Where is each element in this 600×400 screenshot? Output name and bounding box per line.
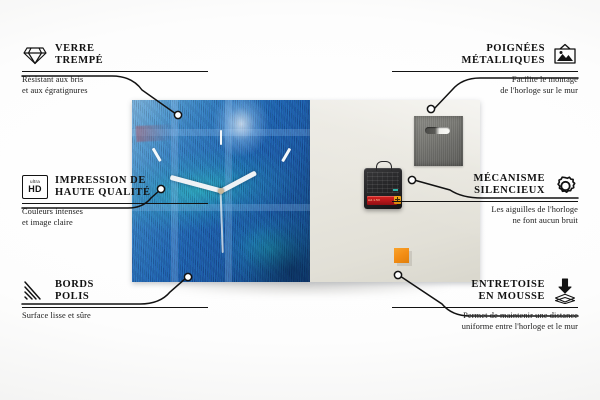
clock-pattern-highlight [200, 100, 282, 162]
foam-spacer [394, 248, 409, 263]
callout-subtitle-impression-hd: Couleurs intenses et image claire [22, 204, 208, 228]
clock-center-cap [218, 188, 224, 194]
callout-title-mecanisme: MÉCANISME SILENCIEUX [474, 173, 545, 197]
callout-subtitle-mecanisme: Les aiguilles de l'horloge ne font aucun… [392, 202, 578, 226]
callout-title-verre-trempe: VERRE TREMPÉ [55, 43, 103, 67]
callout-subtitle-poignees: Facilite le montage de l'horloge sur le … [392, 72, 578, 96]
hanger-keyhole-slot [425, 127, 450, 134]
metal-hanger-plate [414, 116, 463, 166]
callout-impression-hd[interactable]: ultra HD IMPRESSION DE HAUTE QUALITÉ Cou… [22, 174, 208, 228]
callout-title-bords-polis: BORDS POLIS [55, 279, 94, 303]
battery-label: AA 1.5V [368, 198, 380, 202]
callout-entretoise-en-mousse[interactable]: ENTRETOISE EN MOUSSE Permet de maintenir… [392, 278, 578, 332]
callout-bords-polis[interactable]: BORDS POLIS Surface lisse et sûre [22, 278, 208, 322]
movement-hanging-hook [376, 161, 392, 171]
ultra-hd-icon: ultra HD [22, 174, 48, 200]
callout-verre-trempe[interactable]: VERRE TREMPÉ Résistant aux bris et aux é… [22, 42, 208, 96]
gear-icon [552, 172, 578, 198]
callout-title-entretoise: ENTRETOISE EN MOUSSE [471, 279, 545, 303]
callout-subtitle-entretoise: Permet de maintenir une distance uniform… [392, 308, 578, 332]
polished-edge-icon [22, 278, 48, 304]
callout-subtitle-verre-trempe: Résistant aux bris et aux égratignures [22, 72, 208, 96]
ultra-hd-icon-big-text: HD [28, 185, 41, 194]
callout-header-poignees: POIGNÉES MÉTALLIQUES [392, 42, 578, 71]
callout-title-impression-hd: IMPRESSION DE HAUTE QUALITÉ [55, 175, 151, 199]
callout-header-impression-hd: ultra HD IMPRESSION DE HAUTE QUALITÉ [22, 174, 208, 203]
callout-title-poignees: POIGNÉES MÉTALLIQUES [462, 43, 545, 67]
infographic-canvas: AA 1.5V [0, 0, 600, 400]
clock-pattern-accent-streak [135, 124, 175, 142]
hanging-frame-icon [552, 42, 578, 68]
diamond-icon [22, 42, 48, 68]
callout-subtitle-bords-polis: Surface lisse et sûre [22, 308, 208, 321]
callout-header-mecanisme: MÉCANISME SILENCIEUX [392, 172, 578, 201]
callout-poignees-metalliques[interactable]: POIGNÉES MÉTALLIQUES Facilite le montage… [392, 42, 578, 96]
callout-mecanisme-silencieux[interactable]: MÉCANISME SILENCIEUX Les aiguilles de l'… [392, 172, 578, 226]
clock-tick [220, 130, 223, 145]
callout-header-bords-polis: BORDS POLIS [22, 278, 208, 307]
clock-pattern-shadow-corner [221, 198, 310, 282]
callout-header-verre-trempe: VERRE TREMPÉ [22, 42, 208, 71]
foam-spacer-icon [552, 278, 578, 304]
callout-header-entretoise: ENTRETOISE EN MOUSSE [392, 278, 578, 307]
